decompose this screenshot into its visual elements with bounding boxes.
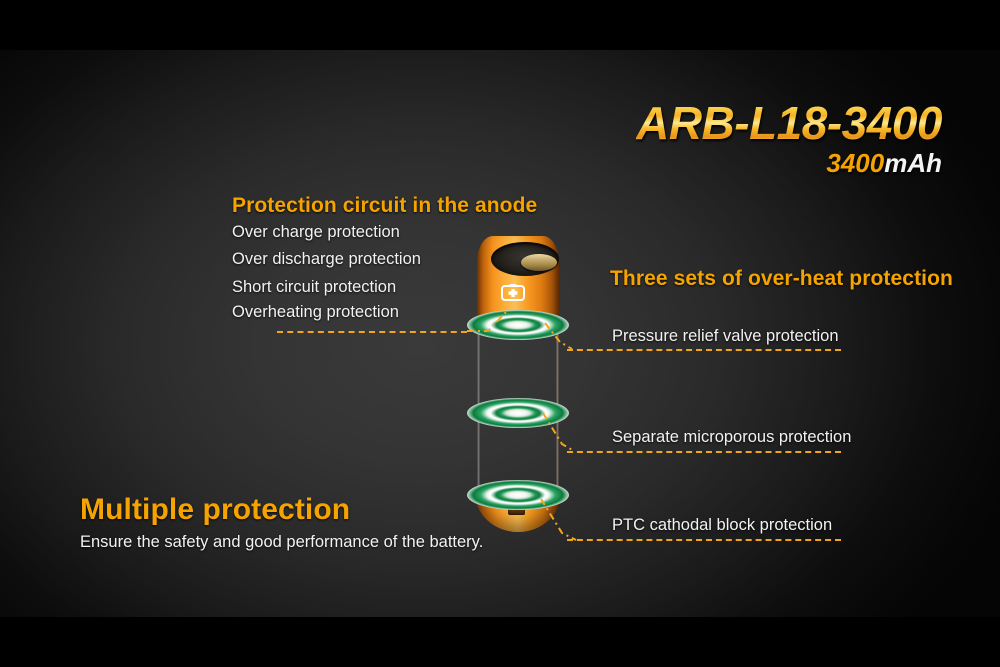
capacity-number: 3400 bbox=[826, 148, 884, 178]
summary-subtext: Ensure the safety and good performance o… bbox=[80, 533, 483, 552]
anode-list-item: Over discharge protection bbox=[232, 250, 421, 269]
summary-heading: Multiple protection bbox=[80, 493, 350, 527]
anode-list-item: Over charge protection bbox=[232, 223, 400, 242]
page-title: ARB-L18-3400 bbox=[636, 100, 942, 146]
anode-list-item: Short circuit protection bbox=[232, 278, 396, 297]
anode-connector-elbow bbox=[455, 300, 525, 340]
feature-underline-pressure-relief bbox=[567, 349, 841, 351]
feature-connector-pressure-relief bbox=[540, 318, 590, 358]
feature-underline-microporous bbox=[567, 451, 841, 453]
feature-label-microporous: Separate microporous protection bbox=[612, 428, 851, 447]
positive-terminal bbox=[521, 254, 557, 271]
feature-connector-ptc-cathodal bbox=[536, 494, 596, 549]
overheat-section-heading: Three sets of over-heat protection bbox=[610, 267, 953, 291]
letterbox-bottom bbox=[0, 617, 1000, 667]
letterbox-top bbox=[0, 0, 1000, 50]
infographic-canvas: ARB-L18-3400 3400mAh Protection circuit … bbox=[0, 0, 1000, 667]
feature-underline-ptc-cathodal bbox=[567, 539, 841, 541]
battery-illustration bbox=[470, 228, 566, 528]
anode-section-heading: Protection circuit in the anode bbox=[232, 194, 537, 218]
feature-label-pressure-relief: Pressure relief valve protection bbox=[612, 327, 839, 346]
product-title-block: ARB-L18-3400 3400mAh bbox=[636, 100, 942, 176]
feature-label-ptc-cathodal: PTC cathodal block protection bbox=[612, 516, 832, 535]
anode-connector-line bbox=[277, 331, 467, 333]
product-capacity: 3400mAh bbox=[636, 150, 942, 176]
anode-list-item: Overheating protection bbox=[232, 303, 399, 322]
feature-connector-microporous bbox=[538, 408, 593, 460]
battery-top-recess bbox=[491, 242, 559, 276]
battery-plus-icon bbox=[501, 283, 525, 301]
capacity-unit: mAh bbox=[884, 148, 942, 178]
